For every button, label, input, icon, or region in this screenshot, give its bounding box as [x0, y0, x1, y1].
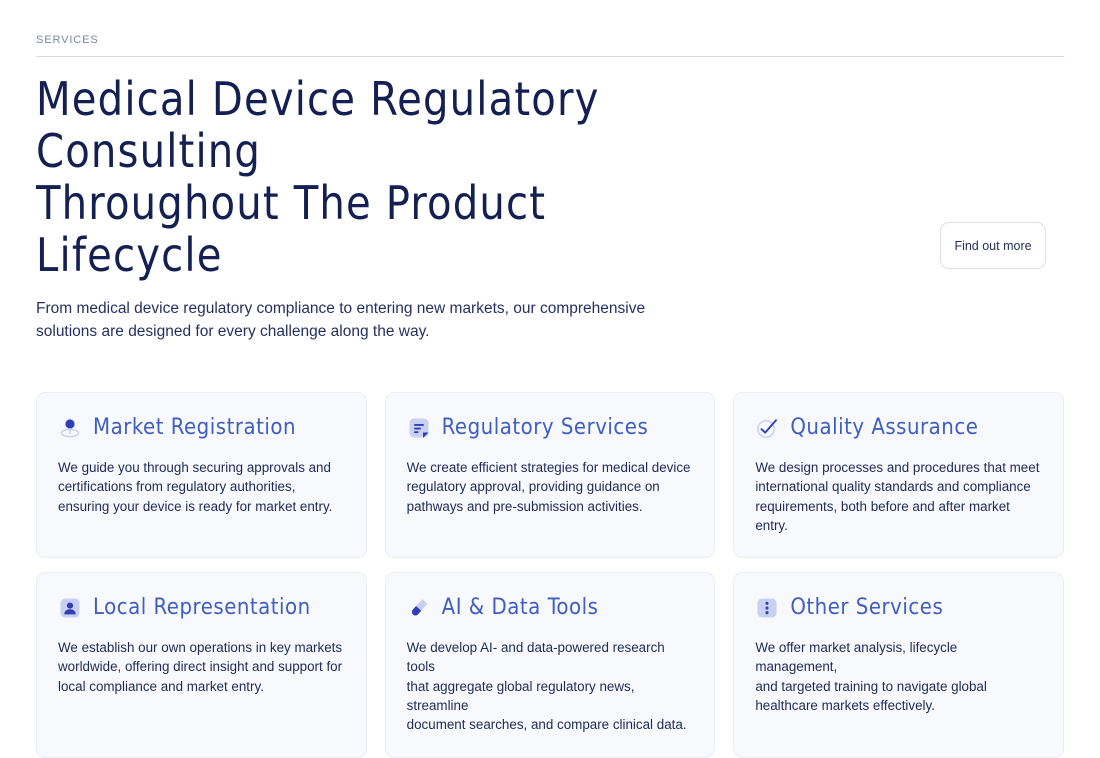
user-badge-icon	[58, 596, 82, 620]
card-title: Market Registration	[93, 415, 296, 441]
service-card-quality-assurance[interactable]: Quality Assurance We design processes an…	[733, 392, 1064, 558]
card-header: Quality Assurance	[755, 413, 1042, 443]
card-title: Other Services	[790, 595, 943, 621]
eyebrow-wrap: SERVICES	[18, 0, 1082, 47]
hero-subtitle: From medical device regulatory complianc…	[36, 297, 701, 343]
service-card-market-registration[interactable]: Market Registration We guide you through…	[36, 392, 367, 558]
card-title: Local Representation	[93, 595, 311, 621]
page-title: Medical Device Regulatory Consulting Thr…	[36, 73, 734, 281]
check-circle-icon	[755, 416, 779, 440]
service-card-regulatory-services[interactable]: Regulatory Services We create efficient …	[385, 392, 716, 558]
test-tube-icon	[407, 596, 431, 620]
document-icon	[407, 416, 431, 440]
hero-text-block: Medical Device Regulatory Consulting Thr…	[36, 57, 756, 343]
card-description: We guide you through securing approvals …	[58, 458, 345, 516]
section-eyebrow: SERVICES	[36, 33, 1082, 47]
card-description: We create efficient strategies for medic…	[407, 458, 694, 516]
card-title: Regulatory Services	[442, 415, 649, 441]
services-card-grid: Market Registration We guide you through…	[18, 392, 1082, 758]
service-card-local-representation[interactable]: Local Representation We establish our ow…	[36, 572, 367, 757]
service-card-other-services[interactable]: Other Services We offer market analysis,…	[733, 572, 1064, 757]
card-header: Regulatory Services	[407, 413, 694, 443]
hero-cta-wrap: Find out more	[940, 57, 1064, 269]
card-header: Market Registration	[58, 413, 345, 443]
map-pin-icon	[58, 416, 82, 440]
find-out-more-button[interactable]: Find out more	[940, 222, 1046, 269]
card-description: We develop AI- and data-powered research…	[407, 638, 694, 734]
services-page: SERVICES Medical Device Regulatory Consu…	[0, 0, 1100, 619]
card-description: We offer market analysis, lifecycle mana…	[755, 638, 1042, 715]
hero-section: Medical Device Regulatory Consulting Thr…	[18, 57, 1082, 343]
more-vertical-icon	[755, 596, 779, 620]
card-description: We establish our own operations in key m…	[58, 638, 345, 696]
card-title: AI & Data Tools	[442, 595, 599, 621]
service-card-ai-data-tools[interactable]: AI & Data Tools We develop AI- and data-…	[385, 572, 716, 757]
card-title: Quality Assurance	[790, 415, 978, 441]
card-description: We design processes and procedures that …	[755, 458, 1042, 535]
